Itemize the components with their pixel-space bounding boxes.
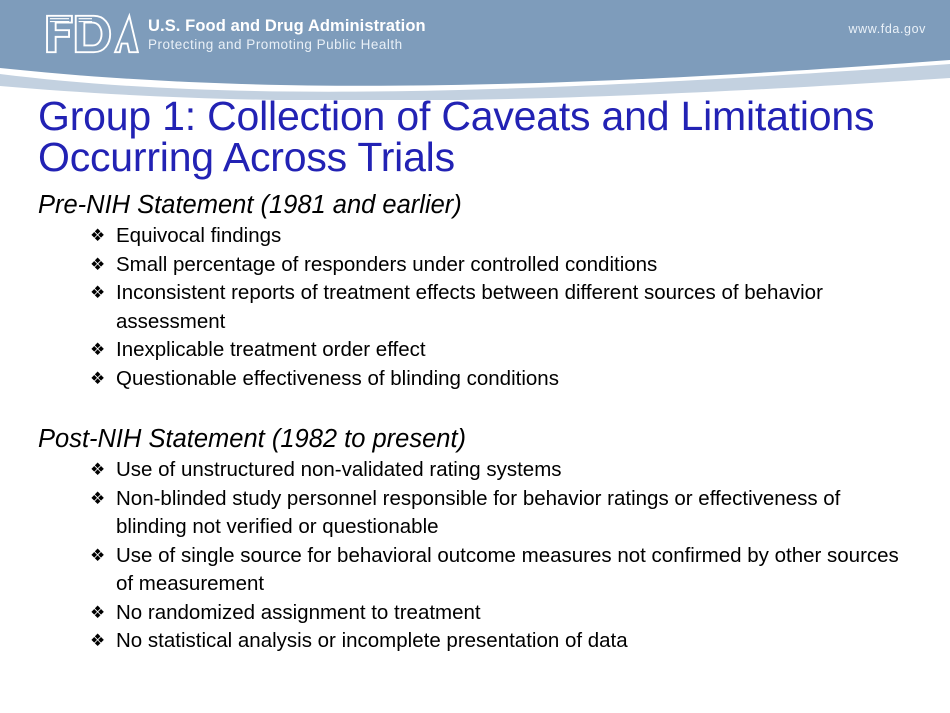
section-spacer xyxy=(38,393,930,424)
diamond-bullet-icon: ❖ xyxy=(90,542,116,571)
list-item-text: Equivocal findings xyxy=(116,222,906,251)
diamond-bullet-icon: ❖ xyxy=(90,222,116,251)
list-item: ❖ Use of single source for behavioral ou… xyxy=(90,542,930,599)
list-item-text: No randomized assignment to treatment xyxy=(116,599,906,628)
diamond-bullet-icon: ❖ xyxy=(90,336,116,365)
list-item-text: Questionable effectiveness of blinding c… xyxy=(116,365,906,394)
list-item-text: No statistical analysis or incomplete pr… xyxy=(116,627,906,656)
list-item-text: Inexplicable treatment order effect xyxy=(116,336,906,365)
slide-content: Pre-NIH Statement (1981 and earlier) ❖ E… xyxy=(0,178,950,656)
section-pre-nih: Pre-NIH Statement (1981 and earlier) ❖ E… xyxy=(38,190,930,393)
list-item-text: Non-blinded study personnel responsible … xyxy=(116,485,906,542)
list-item-text: Use of single source for behavioral outc… xyxy=(116,542,906,599)
diamond-bullet-icon: ❖ xyxy=(90,627,116,656)
list-item: ❖ Questionable effectiveness of blinding… xyxy=(90,365,930,394)
list-item-text: Inconsistent reports of treatment effect… xyxy=(116,279,906,336)
fda-logo-icon xyxy=(44,12,140,56)
diamond-bullet-icon: ❖ xyxy=(90,365,116,394)
diamond-bullet-icon: ❖ xyxy=(90,279,116,308)
list-item: ❖ No randomized assignment to treatment xyxy=(90,599,930,628)
bullet-list: ❖ Use of unstructured non-validated rati… xyxy=(38,456,930,656)
list-item: ❖ Small percentage of responders under c… xyxy=(90,251,930,280)
list-item: ❖ Inconsistent reports of treatment effe… xyxy=(90,279,930,336)
section-heading: Post-NIH Statement (1982 to present) xyxy=(38,424,930,454)
agency-identity: U.S. Food and Drug Administration Protec… xyxy=(148,17,426,53)
section-heading: Pre-NIH Statement (1981 and earlier) xyxy=(38,190,930,220)
section-post-nih: Post-NIH Statement (1982 to present) ❖ U… xyxy=(38,424,930,656)
list-item: ❖ Non-blinded study personnel responsibl… xyxy=(90,485,930,542)
slide-title: Group 1: Collection of Caveats and Limit… xyxy=(0,96,950,178)
list-item: ❖ No statistical analysis or incomplete … xyxy=(90,627,930,656)
bullet-list: ❖ Equivocal findings ❖ Small percentage … xyxy=(38,222,930,393)
diamond-bullet-icon: ❖ xyxy=(90,251,116,280)
slide-body: Group 1: Collection of Caveats and Limit… xyxy=(0,96,950,656)
diamond-bullet-icon: ❖ xyxy=(90,599,116,628)
agency-tagline: Protecting and Promoting Public Health xyxy=(148,36,426,53)
list-item: ❖ Equivocal findings xyxy=(90,222,930,251)
list-item: ❖ Inexplicable treatment order effect xyxy=(90,336,930,365)
site-url-label: www.fda.gov xyxy=(849,22,926,36)
list-item-text: Small percentage of responders under con… xyxy=(116,251,906,280)
diamond-bullet-icon: ❖ xyxy=(90,456,116,485)
list-item: ❖ Use of unstructured non-validated rati… xyxy=(90,456,930,485)
diamond-bullet-icon: ❖ xyxy=(90,485,116,514)
agency-title: U.S. Food and Drug Administration xyxy=(148,17,426,36)
fda-header-banner: U.S. Food and Drug Administration Protec… xyxy=(0,0,950,100)
list-item-text: Use of unstructured non-validated rating… xyxy=(116,456,906,485)
